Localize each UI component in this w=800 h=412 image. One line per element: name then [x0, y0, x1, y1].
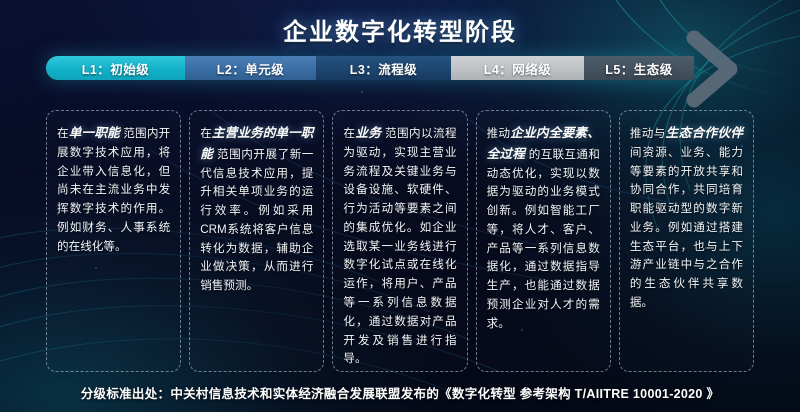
- stage-card-text: 在主营业务的单一职能 范围内开展了新一代信息技术应用，提升相关单项业务的运行效率…: [200, 123, 313, 296]
- maturity-level-bar: L1：初始级 L2：单元级 L3：流程级 L4：网络级 L5：生态级: [46, 56, 694, 80]
- card-lead-text: 在: [57, 127, 69, 140]
- stage-card-l2: 在主营业务的单一职能 范围内开展了新一代信息技术应用，提升相关单项业务的运行效率…: [189, 110, 324, 372]
- card-body-text: 范围内以流程为驱动，实现主营业务流程及关键业务与设备设施、软硬件、行为活动等要素…: [343, 127, 456, 365]
- stage-card-list: 在单一职能 范围内开展数字技术应用，将企业带入信息化，但尚未在主流业务中发挥数字…: [46, 110, 754, 372]
- stage-card-l1: 在单一职能 范围内开展数字技术应用，将企业带入信息化，但尚未在主流业务中发挥数字…: [46, 110, 181, 372]
- level-item-l2[interactable]: L2：单元级: [185, 56, 316, 80]
- level-item-l3[interactable]: L3：流程级: [316, 56, 451, 80]
- source-note: 分级标准出处：中关村信息技术和实体经济融合发展联盟发布的《数字化转型 参考架构 …: [0, 383, 800, 402]
- card-emphasis-text: 业务: [355, 126, 381, 140]
- level-item-l1[interactable]: L1：初始级: [46, 56, 185, 80]
- card-lead-text: 在: [343, 127, 355, 140]
- stage-card-text: 推动与生态合作伙伴 间资源、业务、能力等要素的开放共享和协同合作，共同培育职能驱…: [630, 123, 743, 313]
- card-body-text: 的互联互通和动态优化，实现以数据为驱动的业务模式创新。例如智能工厂等，将人才、客…: [487, 148, 600, 330]
- card-lead-text: 在: [200, 127, 212, 140]
- stage-card-l3: 在业务 范围内以流程为驱动，实现主营业务流程及关键业务与设备设施、软硬件、行为活…: [332, 110, 467, 372]
- card-body-text: 范围内开展了新一代信息技术应用，提升相关单项业务的运行效率。例如采用CRM系统将…: [200, 148, 313, 292]
- card-lead-text: 推动: [487, 127, 511, 140]
- stage-card-text: 推动企业内全要素、全过程 的互联互通和动态优化，实现以数据为驱动的业务模式创新。…: [487, 123, 600, 334]
- stage-card-l5: 推动与生态合作伙伴 间资源、业务、能力等要素的开放共享和协同合作，共同培育职能驱…: [619, 110, 754, 372]
- card-lead-text: 推动与: [630, 127, 666, 140]
- stage-card-l4: 推动企业内全要素、全过程 的互联互通和动态优化，实现以数据为驱动的业务模式创新。…: [476, 110, 611, 372]
- card-body-text: 范围内开展数字技术应用，将企业带入信息化，但尚未在主流业务中发挥数字技术的作用。…: [57, 127, 170, 253]
- stage-card-text: 在单一职能 范围内开展数字技术应用，将企业带入信息化，但尚未在主流业务中发挥数字…: [57, 123, 170, 256]
- card-body-text: 间资源、业务、能力等要素的开放共享和协同合作，共同培育职能驱动型的数字新业务。例…: [630, 146, 743, 309]
- level-item-l4[interactable]: L4：网络级: [451, 56, 584, 80]
- stage-card-text: 在业务 范围内以流程为驱动，实现主营业务流程及关键业务与设备设施、软硬件、行为活…: [343, 123, 456, 369]
- chevron-right-icon: [672, 30, 758, 108]
- slide-canvas: 企业数字化转型阶段 L1：初始级 L2：单元级 L3：流程级 L4：网络级 L5…: [0, 0, 800, 412]
- card-emphasis-text: 生态合作伙伴: [666, 126, 743, 140]
- card-emphasis-text: 单一职能: [69, 126, 120, 140]
